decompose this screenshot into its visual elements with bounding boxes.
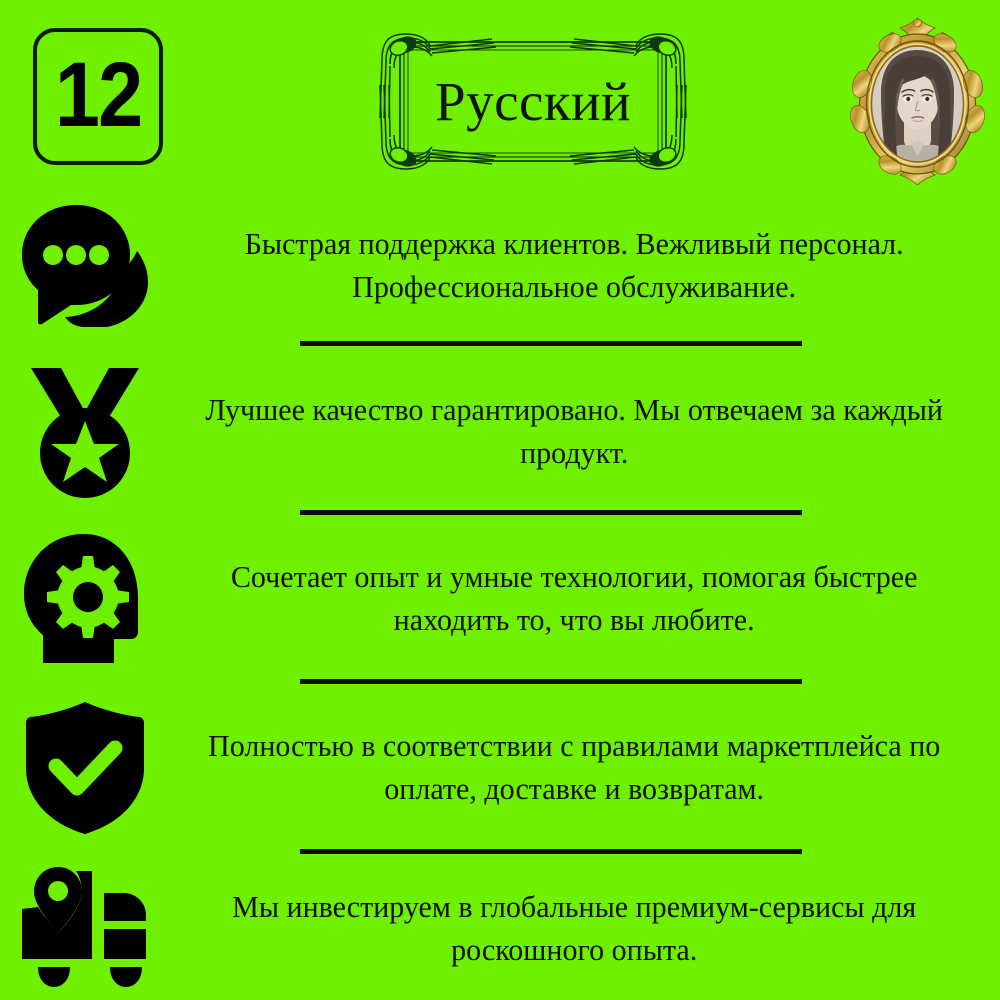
feature-text: Мы инвестируем в глобальные премиум-серв…	[176, 886, 994, 973]
feature-text: Быстрая поддержка клиентов. Вежливый пер…	[176, 223, 994, 310]
head-gear-icon	[0, 532, 170, 666]
info-card: 12	[0, 0, 1000, 1000]
feature-row: Лучшее качество гарантировано. Мы отвеча…	[0, 358, 1000, 506]
feature-row: Сочетает опыт и умные технологии, помога…	[0, 524, 1000, 674]
feature-row: Мы инвестируем в глобальные премиум-серв…	[0, 858, 1000, 1000]
delivery-truck-location-icon	[0, 865, 170, 993]
row-divider	[300, 341, 802, 346]
avatar	[845, 14, 990, 189]
medal-star-icon	[0, 365, 170, 499]
feature-row: Быстрая поддержка клиентов. Вежливый пер…	[0, 196, 1000, 336]
chat-bubbles-icon	[0, 203, 170, 329]
portrait-oval-frame-icon	[845, 14, 990, 189]
feature-text: Лучшее качество гарантировано. Мы отвеча…	[176, 389, 994, 476]
row-divider	[300, 849, 802, 854]
row-divider	[300, 510, 802, 515]
title-frame: Русский	[372, 26, 694, 177]
row-divider	[300, 679, 802, 684]
number-badge-label: 12	[55, 49, 142, 141]
page-title: Русский	[372, 26, 694, 177]
number-badge: 12	[33, 28, 163, 165]
feature-text: Сочетает опыт и умные технологии, помога…	[176, 556, 994, 643]
shield-check-icon	[0, 700, 170, 836]
feature-text: Полностью в соответствии с правилами мар…	[176, 725, 994, 812]
feature-row: Полностью в соответствии с правилами мар…	[0, 692, 1000, 844]
